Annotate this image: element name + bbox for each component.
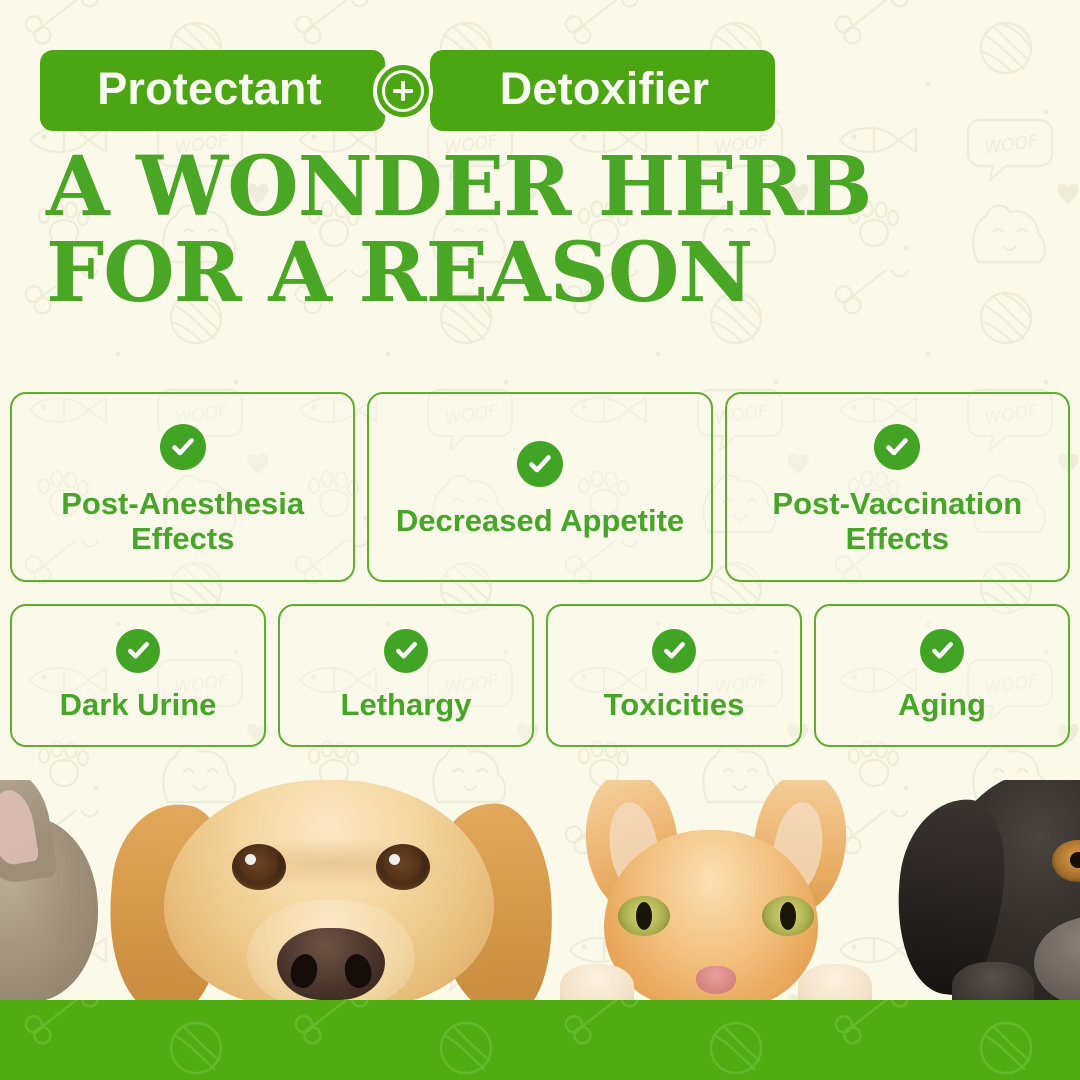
benefit-card-label: Dark Urine [52,687,225,722]
check-circle-icon [160,424,206,470]
check-circle-icon [384,629,428,673]
check-circle-icon [874,424,920,470]
benefit-card-label: Post-Vaccination Effects [727,486,1068,556]
tabby-cat-left-image [0,780,98,1002]
benefit-cards-row-1: Post-Anesthesia Effects Decreased Appeti… [10,392,1070,582]
dog-nose [277,928,385,1000]
dog-nostril-right [342,952,375,991]
cat-eye-left [618,896,670,936]
banner-label-protectant: Protectant [97,66,322,111]
check-circle-icon [517,441,563,487]
benefit-card-label: Post-Anesthesia Effects [12,486,353,556]
orange-tabby-cat-image [566,780,866,1010]
bottom-bar-doodle-pattern [0,1000,1080,1080]
check-circle-icon [116,629,160,673]
golden-retriever-dog-image [112,780,550,1008]
benefit-card-post-anesthesia-effects[interactable]: Post-Anesthesia Effects [10,392,355,582]
benefit-card-post-vaccination-effects[interactable]: Post-Vaccination Effects [725,392,1070,582]
page-title-line-1: A WONDER HERB [46,146,946,230]
benefit-card-dark-urine[interactable]: Dark Urine [10,604,266,747]
benefit-card-toxicities[interactable]: Toxicities [546,604,802,747]
dog-eye-left [232,844,286,890]
banner-label-detoxifier: Detoxifier [500,66,710,111]
benefit-card-lethargy[interactable]: Lethargy [278,604,534,747]
benefit-card-decreased-appetite[interactable]: Decreased Appetite [367,392,712,582]
page-title-line-2: FOR A REASON [46,232,946,316]
check-circle-icon [652,629,696,673]
check-circle-icon [920,629,964,673]
banner-pill-protectant: Protectant [40,50,385,131]
banner-pill-detoxifier: Detoxifier [430,50,775,131]
dog-eye-right [376,844,430,890]
cat-nose [696,966,736,994]
dog-nostril-left [288,952,321,991]
benefit-card-label: Toxicities [596,687,753,722]
benefit-card-label: Aging [890,687,994,722]
page-title: A WONDER HERB FOR A REASON [46,146,946,315]
benefit-card-aging[interactable]: Aging [814,604,1070,747]
benefit-cards-row-2: Dark Urine Lethargy Toxicities [10,604,1070,747]
poster-canvas: WOOF [0,0,1080,1080]
black-dog-image [900,780,1080,1008]
benefit-card-label: Lethargy [333,687,480,722]
cat-eye-right [762,896,814,936]
header-banner: Protectant Detoxifier [40,50,775,131]
plus-icon [373,61,433,121]
plus-glyph [382,70,424,112]
benefit-card-label: Decreased Appetite [388,503,692,538]
benefit-cards-region: Post-Anesthesia Effects Decreased Appeti… [10,392,1070,747]
